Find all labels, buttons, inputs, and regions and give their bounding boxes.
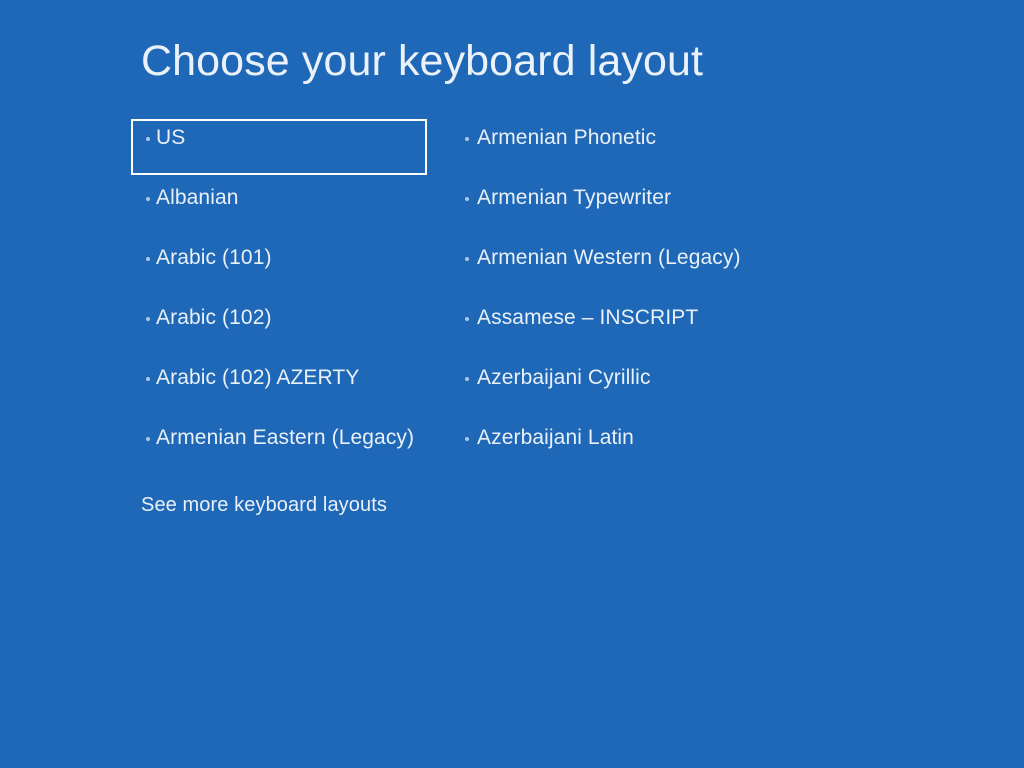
keyboard-layout-option-arabic-102[interactable]: Arabic (102): [131, 299, 431, 359]
keyboard-layout-label: US: [156, 126, 185, 149]
keyboard-layout-label: Arabic (101): [156, 246, 272, 269]
keyboard-layout-list-left: US Albanian Arabic (101) Arabic (102) Ar…: [131, 119, 431, 479]
keyboard-layout-option-azerbaijani-cyrillic[interactable]: Azerbaijani Cyrillic: [455, 359, 785, 419]
bullet-icon: [146, 197, 150, 201]
keyboard-layout-label: Armenian Eastern (Legacy): [156, 426, 414, 449]
keyboard-layout-label: Albanian: [156, 186, 239, 209]
bullet-icon: [465, 257, 469, 261]
keyboard-layout-option-us[interactable]: US: [131, 119, 427, 175]
keyboard-layout-option-arabic-102-azerty[interactable]: Arabic (102) AZERTY: [131, 359, 431, 419]
keyboard-layout-option-albanian[interactable]: Albanian: [131, 179, 431, 239]
page-title: Choose your keyboard layout: [141, 38, 703, 84]
keyboard-layout-label: Azerbaijani Cyrillic: [477, 366, 651, 389]
keyboard-layout-label: Armenian Western (Legacy): [477, 246, 741, 269]
bullet-icon: [146, 137, 150, 141]
keyboard-layout-label: Assamese – INSCRIPT: [477, 306, 698, 329]
keyboard-layout-label: Armenian Phonetic: [477, 126, 656, 149]
bullet-icon: [465, 197, 469, 201]
bullet-icon: [146, 377, 150, 381]
keyboard-layout-option-assamese-inscript[interactable]: Assamese – INSCRIPT: [455, 299, 785, 359]
keyboard-layout-label: Armenian Typewriter: [477, 186, 671, 209]
keyboard-layout-option-armenian-phonetic[interactable]: Armenian Phonetic: [455, 119, 785, 179]
bullet-icon: [465, 377, 469, 381]
keyboard-layout-label: Azerbaijani Latin: [477, 426, 634, 449]
keyboard-layout-label: Arabic (102) AZERTY: [156, 366, 359, 389]
keyboard-layout-option-azerbaijani-latin[interactable]: Azerbaijani Latin: [455, 419, 785, 479]
bullet-icon: [146, 437, 150, 441]
keyboard-layout-screen: Choose your keyboard layout US Albanian …: [0, 0, 1024, 768]
keyboard-layout-list-right: Armenian Phonetic Armenian Typewriter Ar…: [455, 119, 785, 479]
keyboard-layout-option-armenian-typewriter[interactable]: Armenian Typewriter: [455, 179, 785, 239]
keyboard-layout-label: Arabic (102): [156, 306, 272, 329]
bullet-icon: [465, 437, 469, 441]
bullet-icon: [146, 257, 150, 261]
bullet-icon: [146, 317, 150, 321]
bullet-icon: [465, 137, 469, 141]
keyboard-layout-option-armenian-eastern-legacy[interactable]: Armenian Eastern (Legacy): [131, 419, 431, 479]
see-more-keyboard-layouts-link[interactable]: See more keyboard layouts: [141, 492, 387, 518]
bullet-icon: [465, 317, 469, 321]
keyboard-layout-option-armenian-western-legacy[interactable]: Armenian Western (Legacy): [455, 239, 785, 299]
keyboard-layout-option-arabic-101[interactable]: Arabic (101): [131, 239, 431, 299]
